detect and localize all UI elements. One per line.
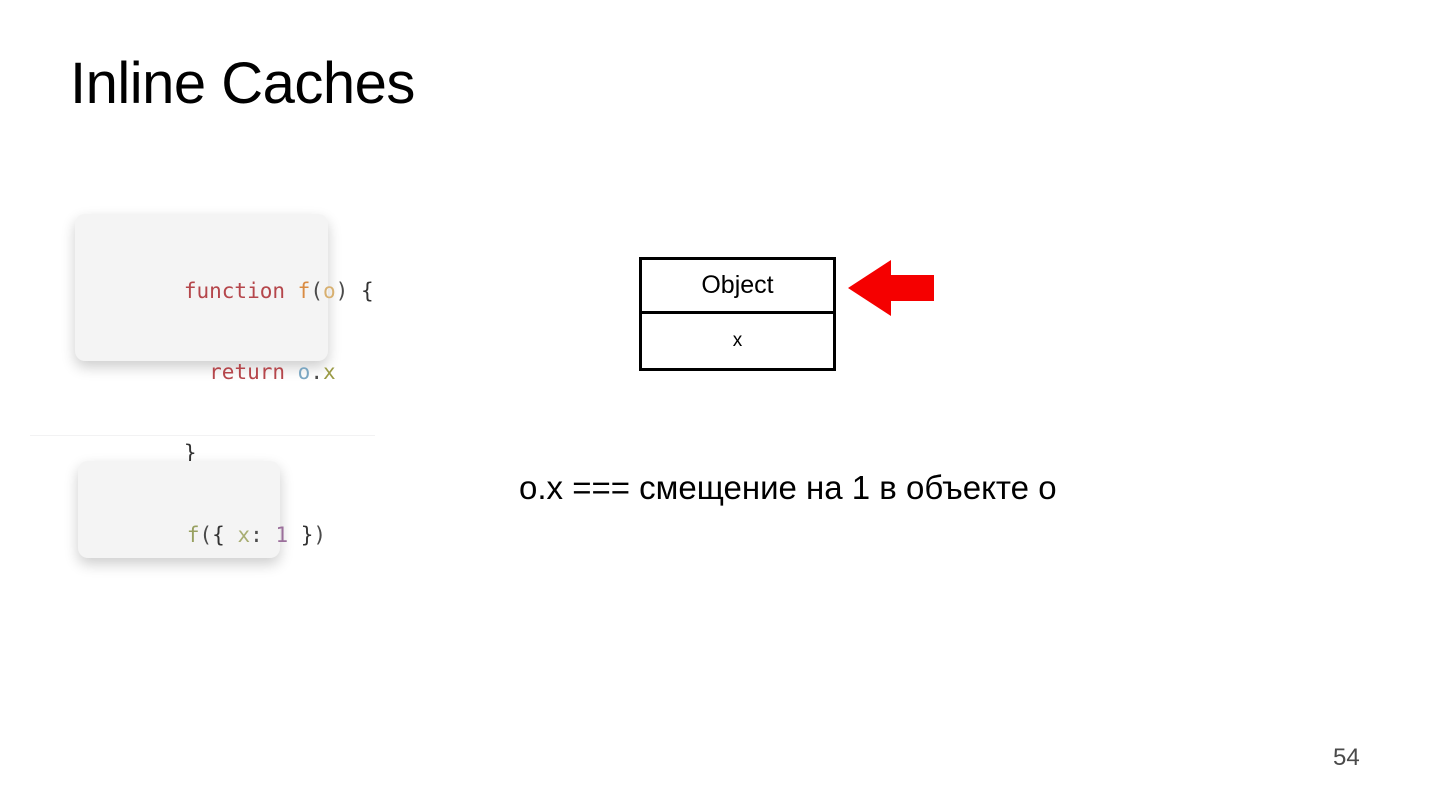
- code-token-colon: :: [250, 523, 263, 547]
- code-token-space: [285, 279, 298, 303]
- code-token-brace-open: {: [212, 523, 225, 547]
- object-diagram-table: Object x: [639, 257, 836, 371]
- code-token-indent: [184, 360, 209, 384]
- caption-text: o.x === смещение на 1 в объекте o: [519, 469, 1057, 507]
- code-token-brace-open: {: [361, 279, 374, 303]
- code-token-paren-open: (: [200, 523, 213, 547]
- code-token-space: [285, 360, 298, 384]
- page-title: Inline Caches: [70, 52, 415, 116]
- code-token-function-call: f: [187, 523, 200, 547]
- code-token-number: 1: [275, 523, 288, 547]
- code-token-space: [225, 523, 238, 547]
- code-block-function-call: f({ x: 1 }): [78, 461, 280, 558]
- object-table-header-cell: Object: [642, 260, 833, 314]
- code-token-space: [288, 523, 301, 547]
- left-arrow-icon: [848, 258, 934, 318]
- code-token-dot: .: [310, 360, 323, 384]
- code-token-space: [348, 279, 361, 303]
- code-block-function-definition: function f(o) { return o.x }: [75, 214, 328, 361]
- code-token-function-name: f: [298, 279, 311, 303]
- code-token-space: [263, 523, 276, 547]
- code-token-brace-close: }: [301, 523, 314, 547]
- object-table-slot-cell: x: [642, 314, 833, 368]
- code-token-paren-close: ): [336, 279, 349, 303]
- code-line: return o.x: [108, 332, 328, 413]
- code-token-keyword: return: [209, 360, 285, 384]
- page-number: 54: [1333, 744, 1360, 772]
- slide: Inline Caches function f(o) { return o.x…: [0, 0, 1430, 804]
- code-token-parameter: o: [323, 279, 336, 303]
- code-token-property: x: [323, 360, 336, 384]
- code-token-keyword: function: [184, 279, 285, 303]
- code-line: f({ x: 1 }): [111, 495, 280, 576]
- code-token-paren-close: ): [313, 523, 326, 547]
- code-token-paren-open: (: [310, 279, 323, 303]
- code-line: function f(o) {: [108, 251, 328, 332]
- code-token-identifier: o: [298, 360, 311, 384]
- code-token-object-key: x: [237, 523, 250, 547]
- faint-divider: [30, 435, 375, 436]
